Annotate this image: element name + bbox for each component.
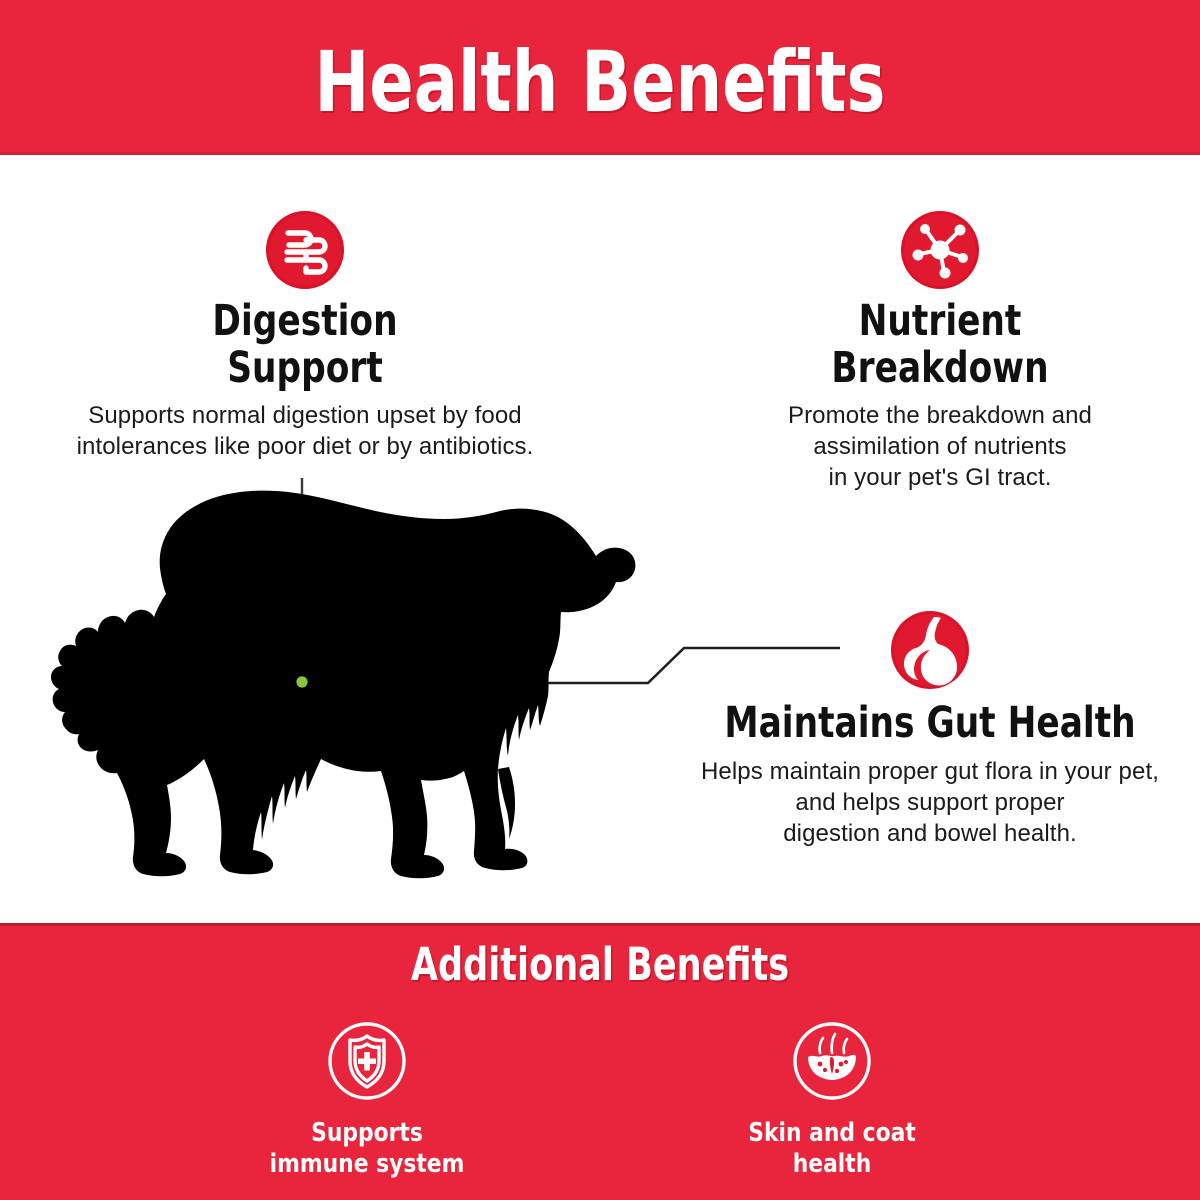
additional-benefit-icon-wrap (237, 1018, 497, 1104)
benefit-icon-wrap (20, 208, 590, 292)
benefit-body: Helps maintain proper gut flora in your … (660, 756, 1200, 849)
skin-hair-icon (790, 1019, 874, 1103)
additional-benefit-skin-and-coat: Skin and coat health (702, 1018, 962, 1180)
additional-benefit-label: Skin and coat health (723, 1118, 941, 1180)
benefit-icon-wrap (700, 208, 1180, 292)
shield-plus-icon (325, 1019, 409, 1103)
additional-benefit-icon-wrap (702, 1018, 962, 1104)
benefit-nutrient-breakdown: Nutrient Breakdown Promote the breakdown… (700, 208, 1180, 493)
benefit-digestion-support: Digestion Support Supports normal digest… (20, 208, 590, 462)
benefit-heading: Nutrient Breakdown (748, 298, 1132, 392)
dog-chest-feathering (498, 767, 515, 839)
benefit-body: Supports normal digestion upset by food … (20, 400, 590, 462)
molecule-icon (900, 210, 980, 290)
page-title: Health Benefits (132, 36, 1068, 128)
stomach-icon (890, 610, 970, 690)
benefit-icon-wrap (660, 608, 1200, 692)
gut-location-marker (296, 676, 307, 687)
additional-benefits-title: Additional Benefits (132, 940, 1068, 990)
intestine-icon (265, 210, 345, 290)
infographic-canvas: Health Benefits Diges (0, 0, 1200, 1200)
benefit-heading: Digestion Support (77, 298, 533, 392)
benefit-body: Promote the breakdown and assimilation o… (700, 400, 1180, 493)
benefit-heading: Maintains Gut Health (714, 698, 1146, 748)
benefit-maintains-gut-health: Maintains Gut Health Helps maintain prop… (660, 608, 1200, 849)
additional-benefit-label: Supports immune system (258, 1118, 476, 1180)
additional-benefit-immune-system: Supports immune system (237, 1018, 497, 1180)
dog-silhouette (51, 491, 635, 879)
